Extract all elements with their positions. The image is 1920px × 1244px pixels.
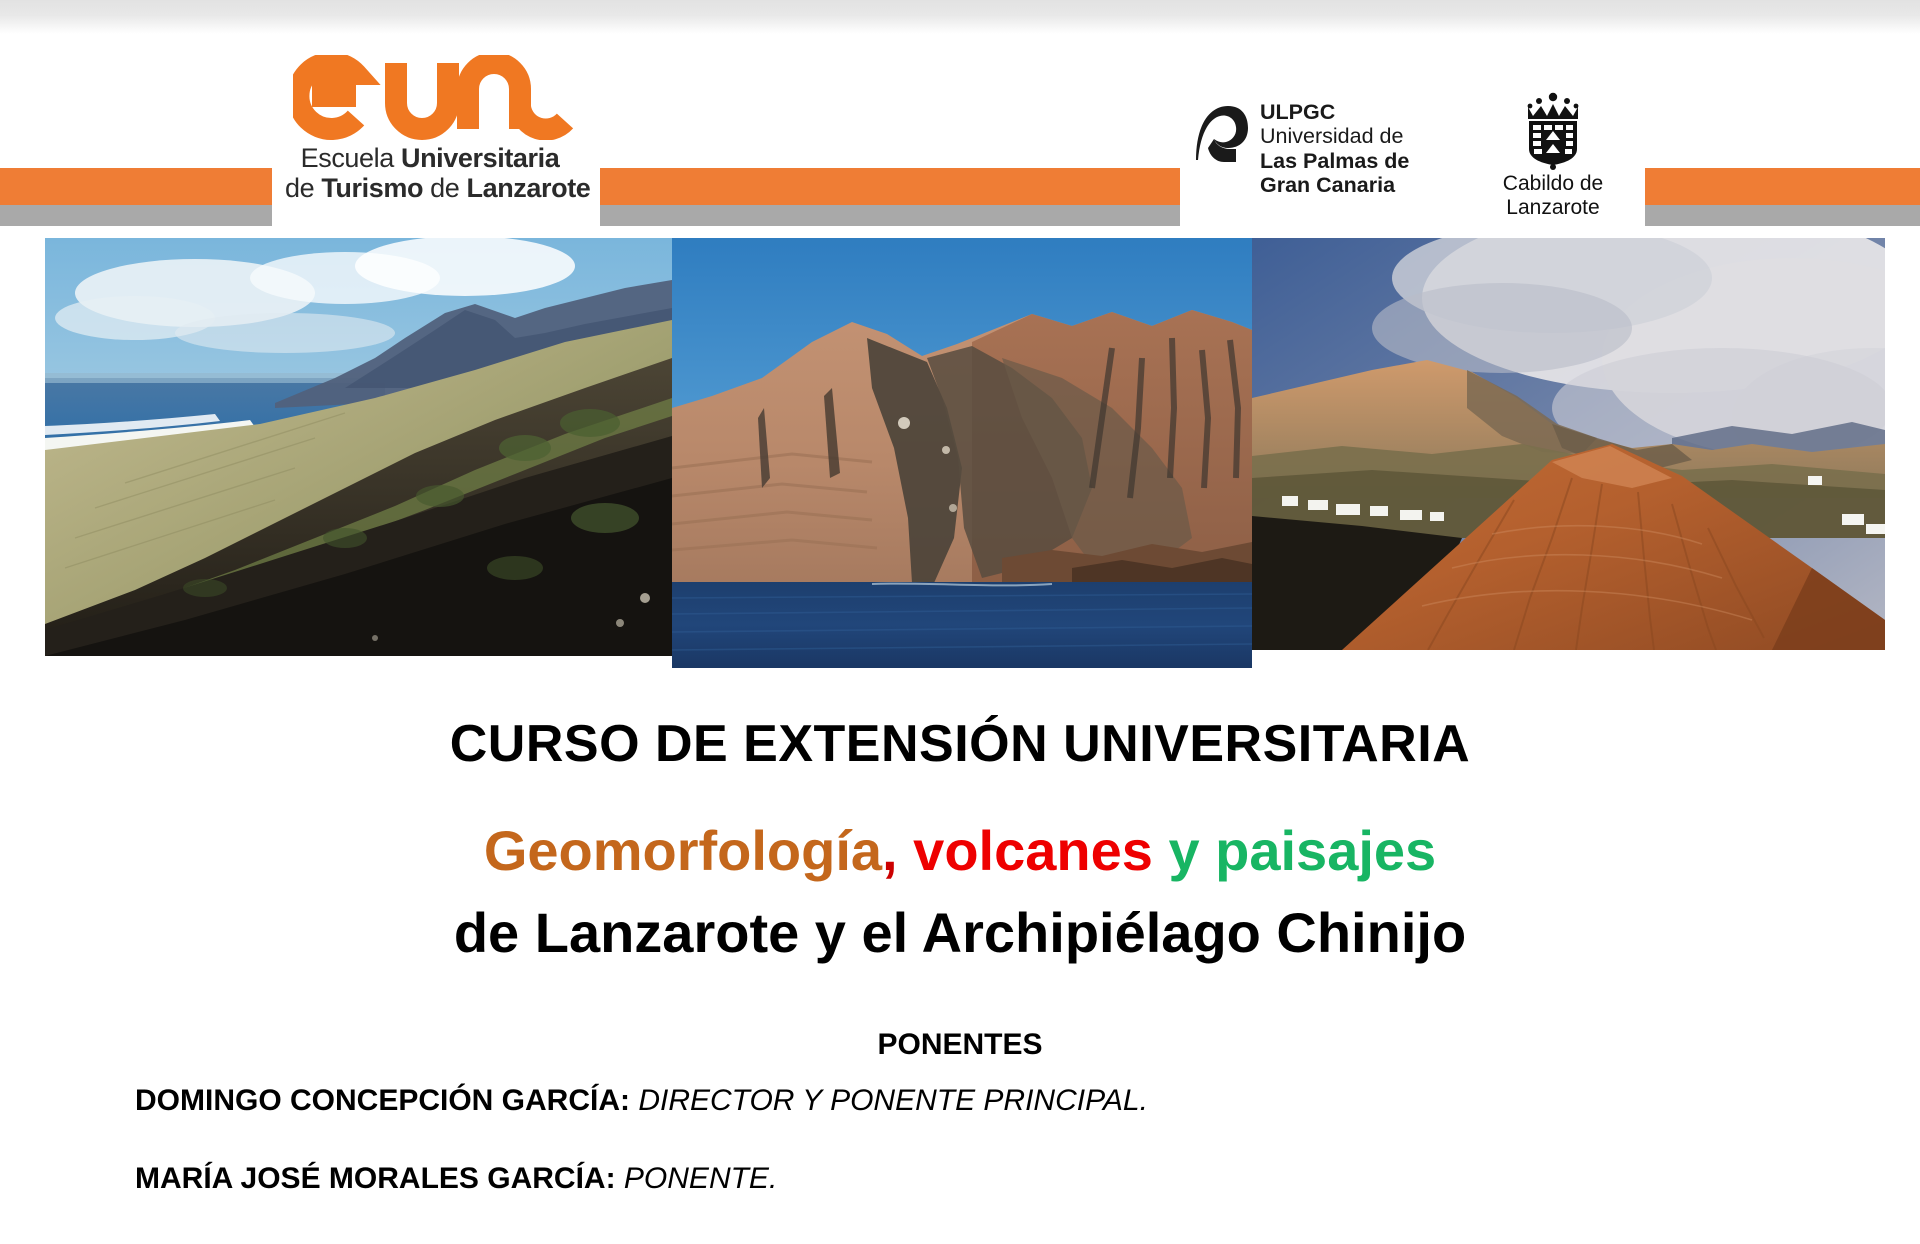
speaker-1-role: DIRECTOR Y PONENTE PRINCIPAL. xyxy=(638,1084,1148,1117)
ulpgc-swirl-logo-icon xyxy=(1188,104,1250,166)
header-band-right-gray xyxy=(1645,205,1920,226)
speaker-2-name: MARÍA JOSÉ MORALES GARCÍA: xyxy=(135,1162,616,1195)
header-band-middle-orange xyxy=(600,168,1180,205)
subtitle-line-2: de Lanzarote y el Archipiélago Chinijo xyxy=(0,900,1920,965)
cabildo-coat-of-arms-icon xyxy=(1520,92,1586,170)
photo-eroded-volcanic-crater-from-sea xyxy=(672,238,1252,668)
cabildo-line1: Cabildo de xyxy=(1478,172,1628,196)
ulpgc-line3: Las Palmas de xyxy=(1260,149,1409,173)
eutl-line1-bold: Universitaria xyxy=(401,143,559,173)
speakers-heading: PONENTES xyxy=(0,1028,1920,1062)
cabildo-logo: Cabildo de Lanzarote xyxy=(1478,92,1628,230)
speaker-row-1: DOMINGO CONCEPCIÓN GARCÍA: DIRECTOR Y PO… xyxy=(135,1084,1835,1118)
eutl-logo-line2: de Turismo de Lanzarote xyxy=(285,173,575,204)
photo-famara-cliffs-coastal-landscape xyxy=(45,238,672,656)
cabildo-line2: Lanzarote xyxy=(1478,196,1628,220)
ulpgc-line2: Universidad de xyxy=(1260,124,1409,148)
eutl-line2-light2: de xyxy=(430,173,466,203)
ulpgc-line4: Gran Canaria xyxy=(1260,173,1409,197)
top-gradient-strip xyxy=(0,0,1920,34)
eutl-line2-light: de xyxy=(285,173,321,203)
photo-strip xyxy=(45,238,1885,670)
speaker-2-role: PONENTE. xyxy=(624,1162,777,1195)
speaker-1-name: DOMINGO CONCEPCIÓN GARCÍA: xyxy=(135,1084,630,1117)
ulpgc-logo-text: ULPGC Universidad de Las Palmas de Gran … xyxy=(1260,100,1409,197)
ulpgc-logo: ULPGC Universidad de Las Palmas de Gran … xyxy=(1188,100,1438,230)
subtitle-comma: , xyxy=(882,819,898,882)
photo-red-volcanic-cone-with-clouds xyxy=(1252,238,1885,650)
cabildo-logo-text: Cabildo de Lanzarote xyxy=(1478,172,1628,219)
eutl-line2-bold2: Lanzarote xyxy=(467,173,591,203)
subtitle-geomorfologia: Geomorfología xyxy=(484,819,882,882)
subtitle-volcanes: volcanes xyxy=(913,819,1153,882)
page-title: CURSO DE EXTENSIÓN UNIVERSITARIA xyxy=(0,714,1920,774)
speaker-row-2: MARÍA JOSÉ MORALES GARCÍA: PONENTE. xyxy=(135,1162,1835,1196)
famara-cliffs-image xyxy=(45,238,672,656)
eroded-crater-image xyxy=(672,238,1252,668)
header-band-left-gray xyxy=(0,205,272,226)
header-band-left xyxy=(0,168,272,226)
eutl-logo-line1: Escuela Universitaria xyxy=(285,143,575,174)
red-cone-image xyxy=(1252,238,1885,650)
ulpgc-line1: ULPGC xyxy=(1260,100,1409,124)
header-band-middle-gray xyxy=(600,205,1180,226)
header-band-right-orange xyxy=(1645,168,1920,205)
eutl-monogram-logo-icon xyxy=(293,55,583,140)
header-band-left-orange xyxy=(0,168,272,205)
eutl-logo: Escuela Universitaria de Turismo de Lanz… xyxy=(285,55,590,220)
eutl-line1-light: Escuela xyxy=(301,143,401,173)
header-band-middle xyxy=(600,168,1180,226)
header-band-right xyxy=(1645,168,1920,226)
eutl-line2-bold: Turismo xyxy=(321,173,430,203)
subtitle-paisajes: y paisajes xyxy=(1168,819,1436,882)
subtitle-line-1: Geomorfología, volcanes y paisajes xyxy=(0,818,1920,883)
